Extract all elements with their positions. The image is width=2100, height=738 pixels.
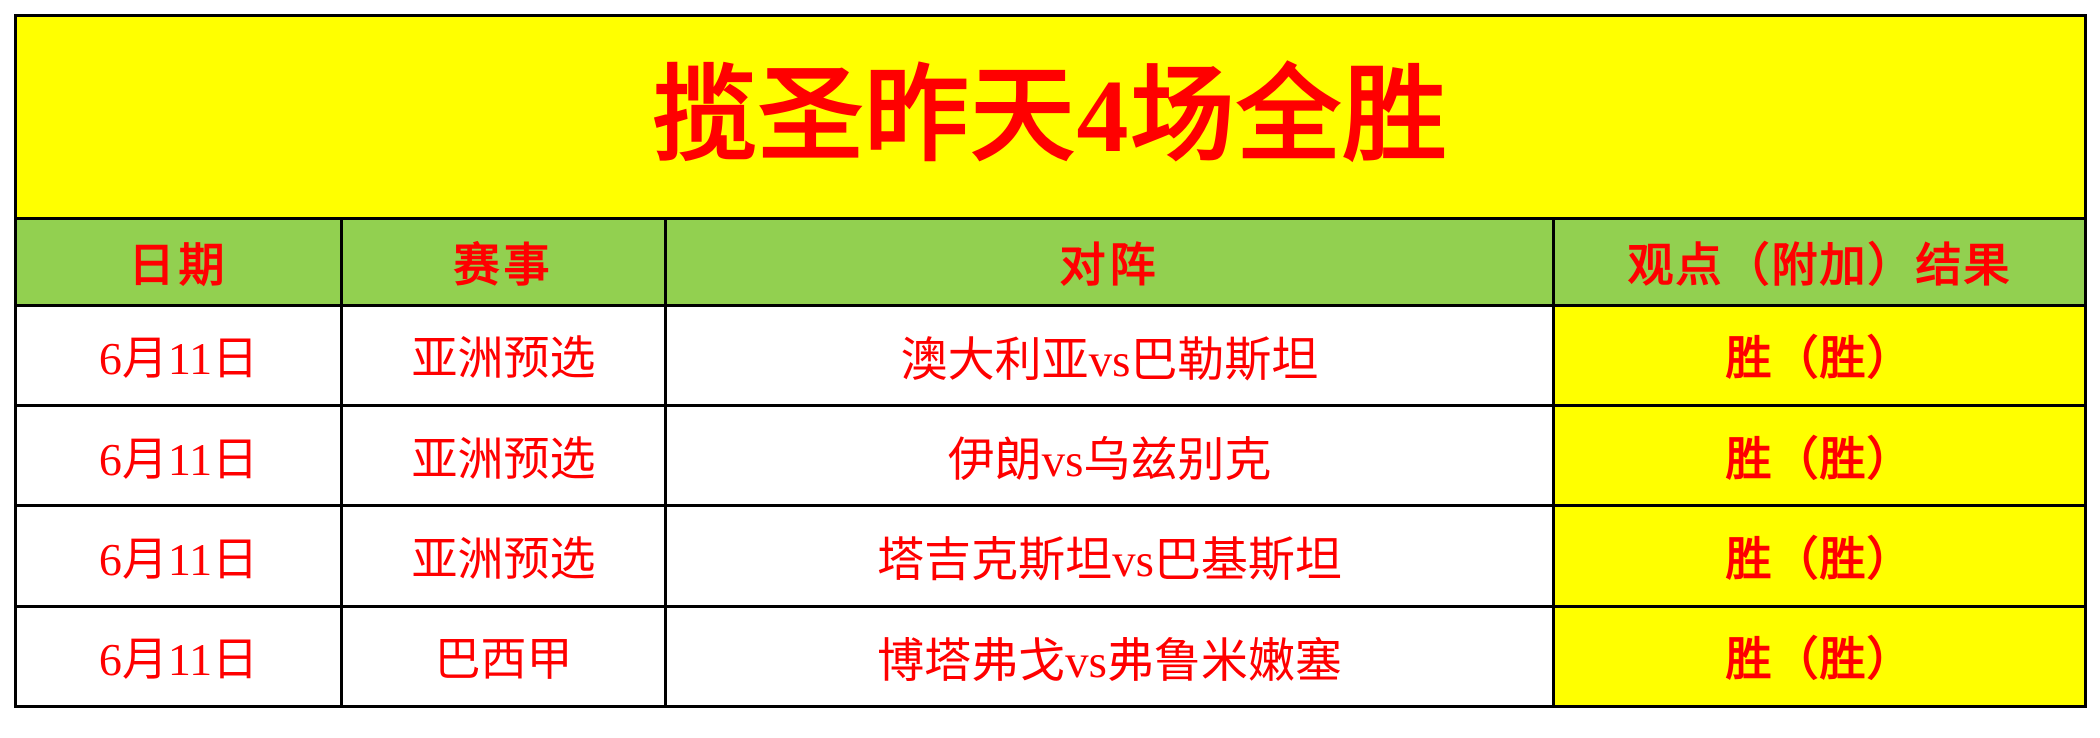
cell-competition: 亚洲预选 <box>342 406 666 506</box>
cell-date: 6月11日 <box>16 305 342 405</box>
page-title: 揽圣昨天4场全胜 <box>16 16 2086 219</box>
cell-result: 胜（胜） <box>1554 606 2086 706</box>
cell-result: 胜（胜） <box>1554 506 2086 606</box>
cell-date: 6月11日 <box>16 506 342 606</box>
table-row: 6月11日 亚洲预选 伊朗vs乌兹别克 胜（胜） <box>16 406 2086 506</box>
cell-competition: 巴西甲 <box>342 606 666 706</box>
title-row: 揽圣昨天4场全胜 <box>16 16 2086 219</box>
cell-matchup: 伊朗vs乌兹别克 <box>666 406 1554 506</box>
cell-competition: 亚洲预选 <box>342 506 666 606</box>
cell-date: 6月11日 <box>16 406 342 506</box>
table-header-row: 日期 赛事 对阵 观点（附加）结果 <box>16 218 2086 305</box>
table-row: 6月11日 亚洲预选 塔吉克斯坦vs巴基斯坦 胜（胜） <box>16 506 2086 606</box>
table-row: 6月11日 亚洲预选 澳大利亚vs巴勒斯坦 胜（胜） <box>16 305 2086 405</box>
cell-matchup: 博塔弗戈vs弗鲁米嫩塞 <box>666 606 1554 706</box>
cell-matchup: 澳大利亚vs巴勒斯坦 <box>666 305 1554 405</box>
table-row: 6月11日 巴西甲 博塔弗戈vs弗鲁米嫩塞 胜（胜） <box>16 606 2086 706</box>
spreadsheet-canvas: 揽圣昨天4场全胜 日期 赛事 对阵 观点（附加）结果 6月11日 亚洲预选 澳大… <box>0 0 2100 738</box>
column-header-date: 日期 <box>16 218 342 305</box>
cell-competition: 亚洲预选 <box>342 305 666 405</box>
cell-result: 胜（胜） <box>1554 406 2086 506</box>
column-header-competition: 赛事 <box>342 218 666 305</box>
results-table: 揽圣昨天4场全胜 日期 赛事 对阵 观点（附加）结果 6月11日 亚洲预选 澳大… <box>14 14 2087 708</box>
cell-matchup: 塔吉克斯坦vs巴基斯坦 <box>666 506 1554 606</box>
column-header-result: 观点（附加）结果 <box>1554 218 2086 305</box>
cell-date: 6月11日 <box>16 606 342 706</box>
cell-result: 胜（胜） <box>1554 305 2086 405</box>
column-header-matchup: 对阵 <box>666 218 1554 305</box>
